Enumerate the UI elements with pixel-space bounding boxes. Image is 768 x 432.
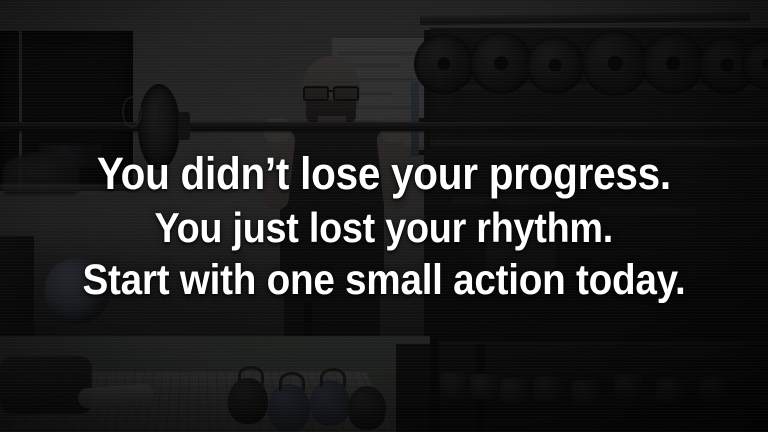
rack-leg <box>430 340 439 432</box>
lifter-torso <box>280 126 384 276</box>
equipment-shadow-area <box>424 150 768 342</box>
blue-stability-ball <box>44 258 110 324</box>
glasses-lens-left <box>303 86 329 101</box>
dumbbell <box>440 372 468 398</box>
weight-plate <box>642 32 704 94</box>
equipment-edge <box>600 208 696 214</box>
dark-window <box>0 28 136 194</box>
dumbbell <box>656 378 684 404</box>
glasses-lens-right <box>333 86 359 101</box>
weight-plate <box>470 32 532 94</box>
weight-plate <box>414 34 474 94</box>
kettlebell-handle <box>320 368 346 387</box>
weight-plate <box>582 30 648 96</box>
gym-background-photo <box>0 0 768 432</box>
kettlebell <box>268 384 310 432</box>
glasses-icon <box>302 86 360 97</box>
barbell-collar <box>178 112 190 140</box>
barbell-weight-plate <box>138 84 180 170</box>
plate-storage-shelf <box>430 28 768 160</box>
shelf-bar <box>430 140 768 146</box>
dumbbell <box>572 380 600 406</box>
dumbbell <box>534 376 562 402</box>
gear-bag <box>0 356 92 414</box>
barbell-clip <box>122 96 142 128</box>
dumbbell <box>700 376 728 402</box>
quote-poster: You didn’t lose your progress. You just … <box>0 0 768 432</box>
equipment-edge <box>452 196 572 204</box>
kettlebell-handle <box>238 366 264 385</box>
barbell-bar <box>0 122 768 131</box>
dumbbell <box>470 374 498 400</box>
wall-ledge <box>0 184 150 192</box>
dumbbell <box>614 374 642 400</box>
equipment-edge <box>486 228 556 272</box>
dumbbell <box>500 378 528 404</box>
kettlebell-handle <box>279 372 305 391</box>
whiteboard-writing <box>338 52 424 55</box>
kettlebell <box>348 386 386 430</box>
weight-plate <box>526 36 584 94</box>
